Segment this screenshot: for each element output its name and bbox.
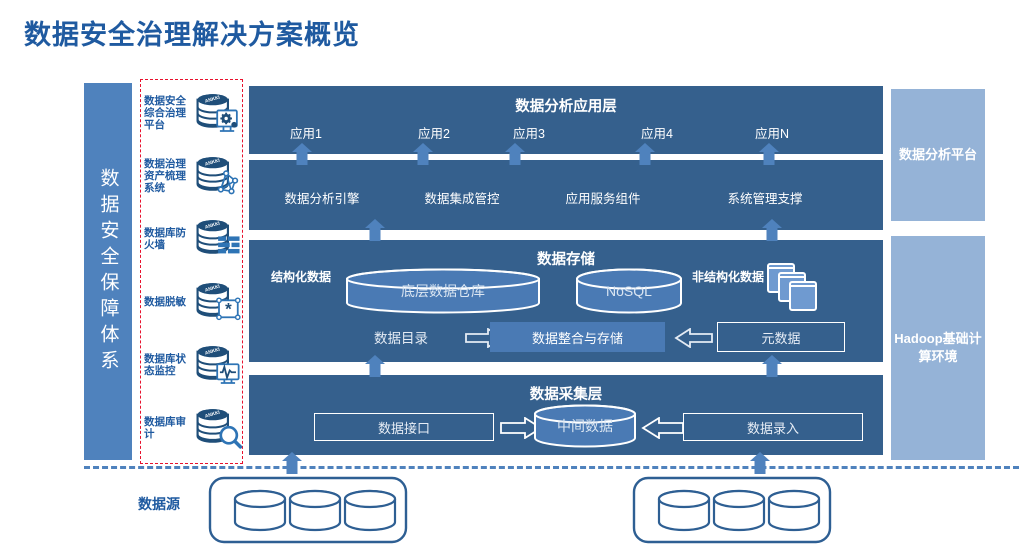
arrow-component-to-application-3 <box>504 143 526 165</box>
arrow-source-to-collection-1 <box>281 452 303 474</box>
warehouse-cylinder: 底层数据仓库 <box>344 268 542 314</box>
data-catalog-label: 数据目录 <box>374 327 428 347</box>
arrow-component-to-application-2 <box>412 143 434 165</box>
right-panel-hadoop-label: Hadoop基础计算环境 <box>891 330 985 365</box>
metadata-box: 元数据 <box>717 322 845 352</box>
arrow-collection-to-storage-2 <box>761 355 783 377</box>
left-vertical-bar: 数据安全保障体系 <box>84 83 132 460</box>
layer-application-title: 数据分析应用层 <box>249 95 883 116</box>
svg-text:*: * <box>225 300 232 319</box>
application-item-1[interactable]: 应用1 <box>290 123 322 142</box>
data-integration-label: 数据整合与存储 <box>532 328 623 347</box>
data-source-group-right <box>632 476 832 549</box>
page-title: 数据安全治理解决方案概览 <box>24 13 360 52</box>
layer-data-storage: 数据存储 结构化数据 底层数据仓库 NoSQL 非结构化数据 <box>249 240 883 362</box>
layer-collection-title: 数据采集层 <box>249 383 883 404</box>
arrow-entry-to-middle <box>641 417 685 444</box>
security-item-6[interactable]: 数据库审计 ANKKI <box>141 398 244 460</box>
security-item-label: 数据库状态监控 <box>144 354 194 378</box>
security-item-2[interactable]: 数据治理资产梳理系统 ANKKI <box>141 146 244 208</box>
component-item-1[interactable]: 数据分析引擎 <box>284 188 359 207</box>
data-integration-box: 数据整合与存储 <box>490 322 665 352</box>
arrow-component-to-application-5 <box>758 143 780 165</box>
data-interface-label: 数据接口 <box>378 418 430 437</box>
left-vertical-bar-label: 数据安全保障体系 <box>99 168 118 376</box>
arrow-storage-to-application-1 <box>364 219 386 241</box>
data-interface-box: 数据接口 <box>314 413 494 441</box>
right-panel-analytics-label: 数据分析平台 <box>899 146 977 164</box>
security-item-4[interactable]: 数据脱敏 ANKKI * <box>141 272 244 334</box>
layer-application-components: 数据分析引擎数据集成管控应用服务组件系统管理支撑 <box>249 160 883 230</box>
arrow-source-to-collection-2 <box>749 452 771 474</box>
security-item-label: 数据库防火墙 <box>144 228 194 252</box>
application-item-5[interactable]: 应用N <box>755 123 789 142</box>
database-network-graph-icon: ANKKI <box>194 151 244 203</box>
right-panel-analytics-platform: 数据分析平台 <box>891 89 985 221</box>
application-item-2[interactable]: 应用2 <box>418 123 450 142</box>
data-source-cylinders <box>632 476 832 544</box>
data-source-cylinders <box>208 476 408 544</box>
arrow-component-to-application-1 <box>291 143 313 165</box>
structured-data-caption: 结构化数据 <box>271 270 329 284</box>
data-entry-box: 数据录入 <box>683 413 863 441</box>
security-item-label: 数据治理资产梳理系统 <box>144 159 194 194</box>
database-monitor-waveform-icon: ANKKI <box>194 340 244 392</box>
database-brick-wall-icon: ANKKI <box>194 214 244 266</box>
arrow-metadata-to-integration <box>674 328 714 353</box>
component-item-2[interactable]: 数据集成管控 <box>424 188 499 207</box>
security-item-label: 数据库审计 <box>144 417 194 441</box>
component-item-3[interactable]: 应用服务组件 <box>565 188 640 207</box>
boundary-divider <box>84 466 1019 469</box>
arrow-collection-to-storage-1 <box>364 355 386 377</box>
arrow-component-to-application-4 <box>634 143 656 165</box>
database-asterisk-mask-icon: ANKKI * <box>194 277 244 329</box>
right-panel-hadoop-environment: Hadoop基础计算环境 <box>891 236 985 460</box>
data-entry-label: 数据录入 <box>747 418 799 437</box>
application-item-4[interactable]: 应用4 <box>641 123 673 142</box>
database-gear-monitor-icon: ANKKI <box>194 88 244 140</box>
unstructured-data-caption: 非结构化数据 <box>692 270 754 284</box>
layer-data-analysis-application: 数据分析应用层 应用1应用2应用3应用4应用N <box>249 86 883 154</box>
layer-data-collection: 数据采集层 数据接口 中间数据 数据录入 <box>249 375 883 455</box>
diagram-canvas: 数据安全治理解决方案概览 数据安全保障体系 数据安全综合治理平台 ANKKI 数… <box>0 0 1036 546</box>
database-magnifier-icon: ANKKI <box>194 403 244 455</box>
nosql-cylinder: NoSQL <box>574 268 684 314</box>
middle-data-cylinder: 中间数据 <box>532 404 638 448</box>
security-system-group: 数据安全综合治理平台 ANKKI 数据治理资产梳理系统 A <box>140 79 243 464</box>
application-item-3[interactable]: 应用3 <box>513 123 545 142</box>
data-source-group-left <box>208 476 408 549</box>
security-item-1[interactable]: 数据安全综合治理平台 ANKKI <box>141 83 244 145</box>
security-item-3[interactable]: 数据库防火墙 ANKKI <box>141 209 244 271</box>
data-source-label: 数据源 <box>138 494 180 514</box>
component-item-4[interactable]: 系统管理支撑 <box>727 188 802 207</box>
arrow-storage-to-application-2 <box>761 219 783 241</box>
security-item-5[interactable]: 数据库状态监控 ANKKI <box>141 335 244 397</box>
security-item-label: 数据安全综合治理平台 <box>144 96 194 131</box>
security-item-label: 数据脱敏 <box>144 297 194 309</box>
stacked-documents-icon <box>762 260 826 320</box>
metadata-label: 元数据 <box>761 328 800 347</box>
